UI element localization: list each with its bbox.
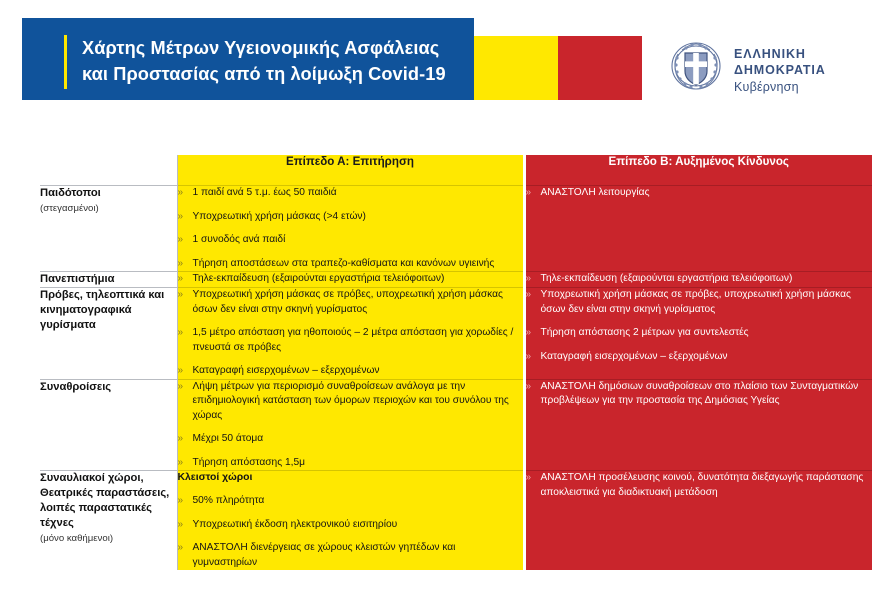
table-body: Παιδότοποι(στεγασμένοι)1 παιδί ανά 5 τ.μ…: [40, 186, 872, 571]
bullet-item: Μέχρι 50 άτομα: [178, 432, 523, 447]
row-label-title: Συναυλιακοί χώροι, Θεατρικές παραστάσεις…: [40, 471, 177, 531]
greek-coat-of-arms-icon: [668, 38, 724, 94]
bullet-item: 1,5 μέτρο απόσταση για ηθοποιούς – 2 μέτ…: [178, 326, 523, 355]
logo-text-block: ΕΛΛΗΝΙΚΗ ΔΗΜΟΚΡΑΤΙΑ Κυβέρνηση: [734, 46, 868, 96]
bullet-item: ΑΝΑΣΤΟΛΗ λειτουργίας: [526, 186, 873, 201]
bullet-list: Υποχρεωτική χρήση μάσκας σε πρόβες, υποχ…: [178, 288, 523, 379]
table-header-row: Επίπεδο Α: Επιτήρηση Επίπεδο Β: Αυξημένο…: [40, 155, 872, 186]
row-label-cell: Συναθροίσεις: [40, 379, 177, 471]
header-red-swatch: [558, 36, 642, 100]
bullet-item: Λήψη μέτρων για περιορισμό συναθροίσεων …: [178, 380, 523, 424]
logo-title: ΕΛΛΗΝΙΚΗ ΔΗΜΟΚΡΑΤΙΑ: [734, 46, 868, 78]
bullet-list: Υποχρεωτική χρήση μάσκας σε πρόβες, υποχ…: [526, 288, 873, 364]
bullet-list: ΑΝΑΣΤΟΛΗ λειτουργίας: [526, 186, 873, 201]
row-label-title: Παιδότοποι: [40, 186, 177, 201]
row-label-title: Πρόβες, τηλεοπτικά και κινηματογραφικά γ…: [40, 288, 177, 333]
bullet-item: 50% πληρότητα: [178, 494, 523, 509]
bullet-item: Υποχρεωτική χρήση μάσκας σε πρόβες, υποχ…: [178, 288, 523, 317]
row-level-a-cell: 1 παιδί ανά 5 τ.μ. έως 50 παιδιάΥποχρεωτ…: [177, 186, 524, 272]
bullet-list: Τηλε-εκπαίδευση (εξαιρούνται εργαστήρια …: [526, 272, 873, 287]
table-row: Συναυλιακοί χώροι, Θεατρικές παραστάσεις…: [40, 471, 872, 571]
row-label-title: Πανεπιστήμια: [40, 272, 177, 287]
page-title-line2: και Προστασίας από τη λοίμωξη Covid-19: [82, 61, 482, 87]
table-header-level-b: Επίπεδο Β: Αυξημένος Κίνδυνος: [524, 155, 872, 186]
bullet-item: Τηλε-εκπαίδευση (εξαιρούνται εργαστήρια …: [526, 272, 873, 287]
page-title: Χάρτης Μέτρων Υγειονομικής Ασφάλειας και…: [82, 35, 482, 87]
row-label-cell: Πανεπιστήμια: [40, 272, 177, 288]
row-label-cell: Συναυλιακοί χώροι, Θεατρικές παραστάσεις…: [40, 471, 177, 571]
government-logo: ΕΛΛΗΝΙΚΗ ΔΗΜΟΚΡΑΤΙΑ Κυβέρνηση: [668, 38, 868, 96]
header-accent-line: [64, 35, 67, 89]
bullet-list: Λήψη μέτρων για περιορισμό συναθροίσεων …: [178, 380, 523, 471]
logo-subtitle: Κυβέρνηση: [734, 78, 868, 96]
row-label-cell: Πρόβες, τηλεοπτικά και κινηματογραφικά γ…: [40, 288, 177, 380]
row-level-b-cell: Υποχρεωτική χρήση μάσκας σε πρόβες, υποχ…: [524, 288, 872, 380]
table-row: Πρόβες, τηλεοπτικά και κινηματογραφικά γ…: [40, 288, 872, 380]
bullet-list: 50% πληρότηταΥποχρεωτική έκδοση ηλεκτρον…: [178, 494, 523, 570]
cell-sub-heading: Κλειστοί χώροι: [178, 471, 523, 485]
bullet-list: ΑΝΑΣΤΟΛΗ δημόσιων συναθροίσεων στο πλαίσ…: [526, 380, 873, 409]
row-level-a-cell: Υποχρεωτική χρήση μάσκας σε πρόβες, υποχ…: [177, 288, 524, 380]
table-row: Παιδότοποι(στεγασμένοι)1 παιδί ανά 5 τ.μ…: [40, 186, 872, 272]
bullet-list: ΑΝΑΣΤΟΛΗ προσέλευσης κοινού, δυνατότητα …: [526, 471, 873, 500]
row-label-subtitle: (στεγασμένοι): [40, 202, 177, 216]
bullet-item: Υποχρεωτική χρήση μάσκας (>4 ετών): [178, 210, 523, 225]
table-header-blank: [40, 155, 177, 186]
bullet-item: Τήρηση απόστασης 1,5μ: [178, 456, 523, 471]
bullet-item: Υποχρεωτική χρήση μάσκας σε πρόβες, υποχ…: [526, 288, 873, 317]
bullet-item: Τήρηση απόστασης 2 μέτρων για συντελεστέ…: [526, 326, 873, 341]
row-level-b-cell: ΑΝΑΣΤΟΛΗ δημόσιων συναθροίσεων στο πλαίσ…: [524, 379, 872, 471]
table-row: ΠανεπιστήμιαΤηλε-εκπαίδευση (εξαιρούνται…: [40, 272, 872, 288]
row-label-title: Συναθροίσεις: [40, 380, 177, 395]
bullet-item: ΑΝΑΣΤΟΛΗ διενέργειας σε χώρους κλειστών …: [178, 541, 523, 570]
table-row: ΣυναθροίσειςΛήψη μέτρων για περιορισμό σ…: [40, 379, 872, 471]
bullet-item: 1 παιδί ανά 5 τ.μ. έως 50 παιδιά: [178, 186, 523, 201]
row-level-a-cell: Κλειστοί χώροι50% πληρότηταΥποχρεωτική έ…: [177, 471, 524, 571]
bullet-list: 1 παιδί ανά 5 τ.μ. έως 50 παιδιάΥποχρεωτ…: [178, 186, 523, 271]
bullet-item: Καταγραφή εισερχομένων – εξερχομένων: [178, 364, 523, 379]
bullet-item: Υποχρεωτική έκδοση ηλεκτρονικού εισιτηρί…: [178, 518, 523, 533]
bullet-item: 1 συνοδός ανά παιδί: [178, 233, 523, 248]
row-level-a-cell: Λήψη μέτρων για περιορισμό συναθροίσεων …: [177, 379, 524, 471]
table-header-level-a: Επίπεδο Α: Επιτήρηση: [177, 155, 524, 186]
measures-table: Επίπεδο Α: Επιτήρηση Επίπεδο Β: Αυξημένο…: [40, 155, 872, 570]
row-level-a-cell: Τηλε-εκπαίδευση (εξαιρούνται εργαστήρια …: [177, 272, 524, 288]
bullet-item: ΑΝΑΣΤΟΛΗ δημόσιων συναθροίσεων στο πλαίσ…: [526, 380, 873, 409]
row-level-b-cell: ΑΝΑΣΤΟΛΗ λειτουργίας: [524, 186, 872, 272]
row-label-subtitle: (μόνο καθήμενοι): [40, 532, 177, 546]
bullet-item: Τήρηση αποστάσεων στα τραπεζο-καθίσματα …: [178, 257, 523, 272]
bullet-item: ΑΝΑΣΤΟΛΗ προσέλευσης κοινού, δυνατότητα …: [526, 471, 873, 500]
row-level-b-cell: Τηλε-εκπαίδευση (εξαιρούνται εργαστήρια …: [524, 272, 872, 288]
bullet-list: Τηλε-εκπαίδευση (εξαιρούνται εργαστήρια …: [178, 272, 523, 287]
header-yellow-swatch: [474, 36, 558, 100]
header-blue-banner: Χάρτης Μέτρων Υγειονομικής Ασφάλειας και…: [22, 18, 474, 100]
bullet-item: Καταγραφή εισερχομένων – εξερχομένων: [526, 350, 873, 365]
row-level-b-cell: ΑΝΑΣΤΟΛΗ προσέλευσης κοινού, δυνατότητα …: [524, 471, 872, 571]
row-label-cell: Παιδότοποι(στεγασμένοι): [40, 186, 177, 272]
page-title-line1: Χάρτης Μέτρων Υγειονομικής Ασφάλειας: [82, 38, 439, 58]
bullet-item: Τηλε-εκπαίδευση (εξαιρούνται εργαστήρια …: [178, 272, 523, 287]
